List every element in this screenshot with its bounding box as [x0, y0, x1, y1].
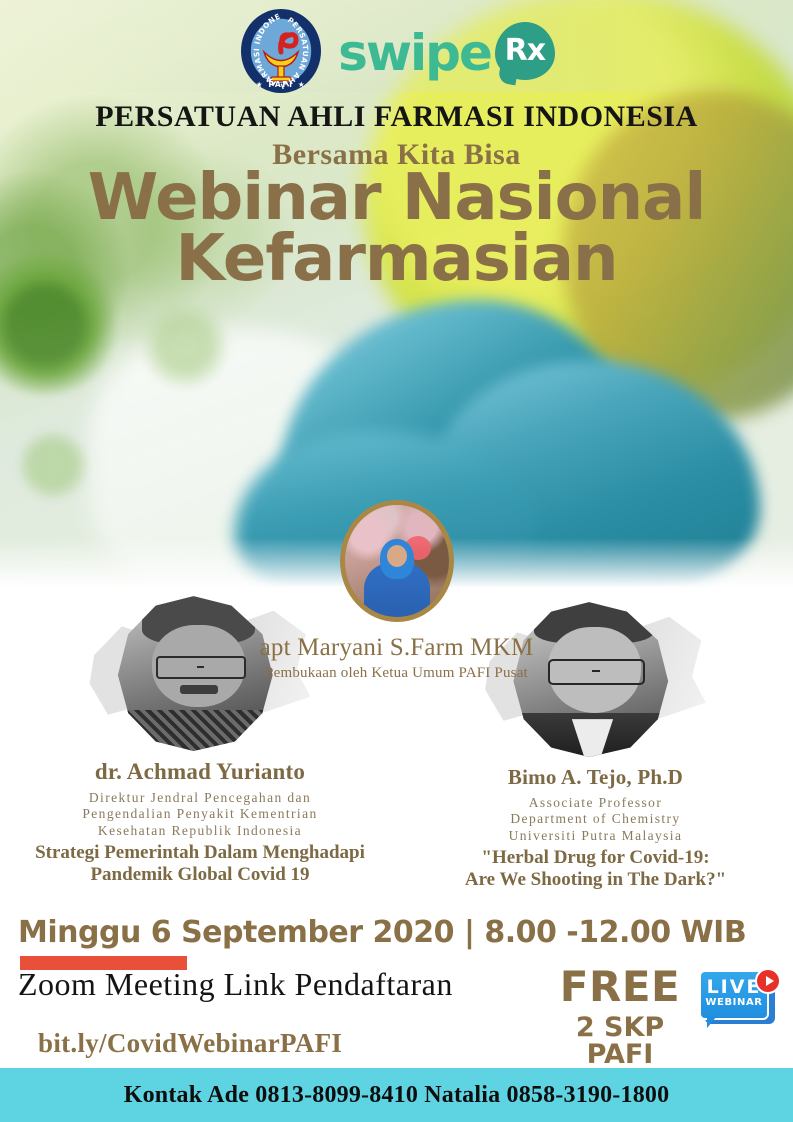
speaker-affiliation: Direktur Jendral Pencegahan dan Pengenda… — [0, 790, 400, 839]
speaker-name: Bimo A. Tejo, Ph.D — [398, 765, 793, 790]
center-speaker-name: apt Maryani S.Farm MKM — [0, 634, 793, 662]
virus-blob-icon — [140, 300, 230, 390]
page-title: Webinar Nasional Kefarmasian — [0, 168, 793, 290]
free-badge: FREE 2 SKP PAFI — [540, 966, 700, 1068]
rx-bubble-icon: Rx — [495, 22, 555, 80]
logo-row: PERSATUAN AHLI FARMASI INDONESIA ★ PAFI … — [0, 8, 793, 94]
affiliation-line: Kesehatan Republik Indonesia — [0, 823, 400, 839]
virus-blob-icon — [18, 430, 88, 500]
skp-label: 2 SKP PAFI — [540, 1014, 700, 1068]
topic-line: Are We Shooting in The Dark?" — [398, 869, 793, 890]
affiliation-line: Department of Chemistry — [398, 811, 793, 827]
avatar — [340, 500, 454, 622]
topic-line: Pandemik Global Covid 19 — [0, 864, 400, 885]
webinar-poster: PERSATUAN AHLI FARMASI INDONESIA ★ PAFI … — [0, 0, 793, 1122]
contact-bar: Kontak Ade 0813-8099-8410 Natalia 0858-3… — [0, 1068, 793, 1122]
topic-line: "Herbal Drug for Covid-19: — [398, 847, 793, 868]
topic-line: Strategi Pemerintah Dalam Menghadapi — [0, 842, 400, 863]
affiliation-line: Pengendalian Penyakit Kementrian — [0, 806, 400, 822]
speaker-name: dr. Achmad Yurianto — [0, 759, 400, 785]
zoom-registration-label: Zoom Meeting Link Pendaftaran — [18, 966, 453, 1003]
pafi-logo-icon: PERSATUAN AHLI FARMASI INDONESIA ★ PAFI … — [238, 8, 324, 94]
affiliation-line: Associate Professor — [398, 795, 793, 811]
affiliation-line: Universiti Putra Malaysia — [398, 828, 793, 844]
speaker-affiliation: Associate Professor Department of Chemis… — [398, 795, 793, 844]
free-label: FREE — [540, 966, 700, 1008]
speaker-topic: Strategi Pemerintah Dalam Menghadapi Pan… — [0, 842, 400, 885]
swiperx-logo: swipe Rx — [338, 22, 555, 80]
center-speaker: apt Maryani S.Farm MKM Pembukaan oleh Ke… — [0, 500, 793, 682]
webinar-label: WEBINAR — [697, 997, 771, 1008]
organization-name: PERSATUAN AHLI FARMASI INDONESIA — [0, 100, 793, 134]
live-webinar-badge: LIVE WEBINAR — [697, 968, 781, 1034]
affiliation-line: Direktur Jendral Pencegahan dan — [0, 790, 400, 806]
svg-text:★ PAFI ★: ★ PAFI ★ — [256, 80, 306, 89]
rx-label: Rx — [495, 22, 555, 80]
swipe-wordmark: swipe — [338, 28, 491, 78]
event-date-time: Minggu 6 September 2020 | 8.00 -12.00 WI… — [18, 915, 746, 950]
speaker-topic: "Herbal Drug for Covid-19: Are We Shooti… — [398, 847, 793, 890]
registration-link[interactable]: bit.ly/CovidWebinarPAFI — [38, 1028, 342, 1059]
play-icon — [755, 968, 781, 994]
title-line-2: Kefarmasian — [0, 229, 793, 290]
center-speaker-role: Pembukaan oleh Ketua Umum PAFI Pusat — [0, 665, 793, 682]
contact-text: Kontak Ade 0813-8099-8410 Natalia 0858-3… — [124, 1082, 670, 1109]
